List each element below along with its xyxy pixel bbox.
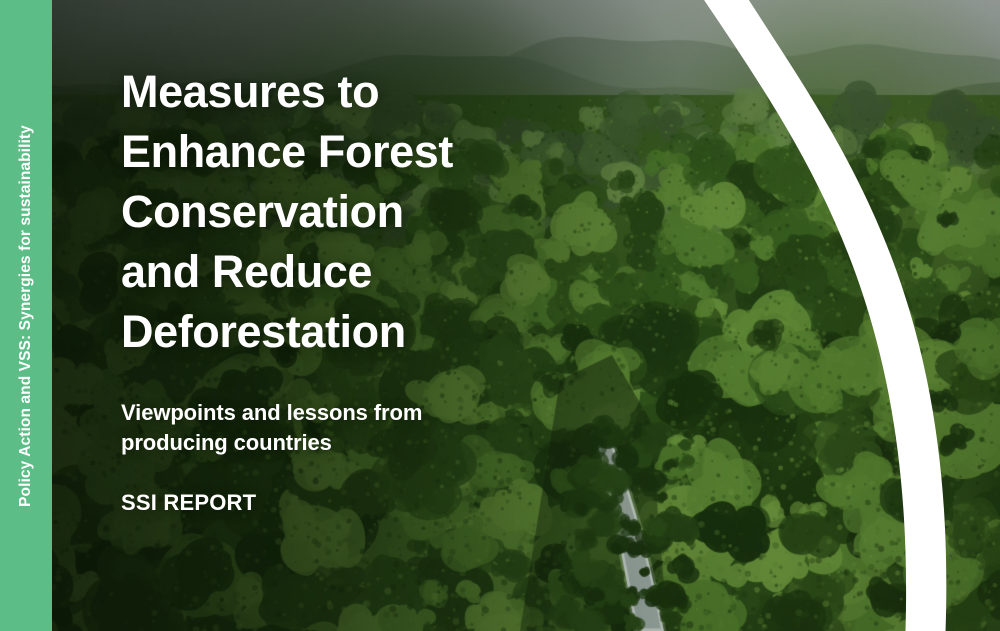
title-line-4: and Reduce <box>121 242 681 302</box>
page-title: Measures to Enhance Forest Conservation … <box>121 62 681 362</box>
report-type-label: SSI REPORT <box>121 490 681 516</box>
series-spine: Policy Action and VSS: Synergies for sus… <box>0 0 52 631</box>
page-subtitle: Viewpoints and lessons from producing co… <box>121 398 521 458</box>
title-line-5: Deforestation <box>121 302 681 362</box>
subtitle-line-2: producing countries <box>121 428 521 458</box>
title-line-3: Conservation <box>121 182 681 242</box>
subtitle-line-1: Viewpoints and lessons from <box>121 398 521 428</box>
cover-text-block: Measures to Enhance Forest Conservation … <box>121 62 681 516</box>
report-cover: Policy Action and VSS: Synergies for sus… <box>0 0 1000 631</box>
series-title-label: Policy Action and VSS: Synergies for sus… <box>17 125 35 507</box>
title-line-1: Measures to <box>121 62 681 122</box>
title-line-2: Enhance Forest <box>121 122 681 182</box>
